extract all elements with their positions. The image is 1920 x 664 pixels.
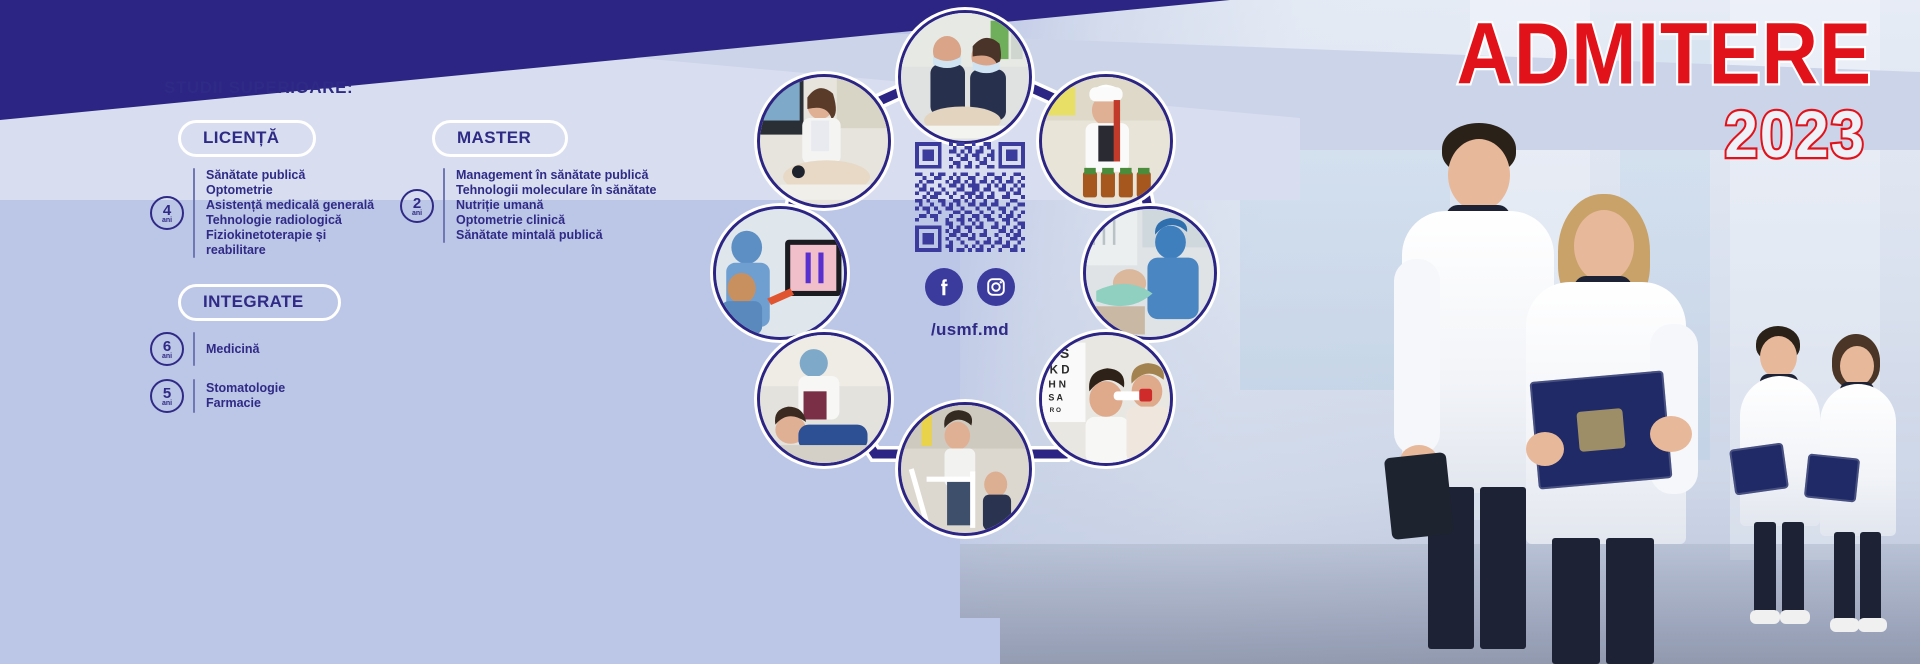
photo-illustration: S K D H N S A R O [1042,335,1170,463]
svg-text:K D: K D [1050,364,1070,376]
studies-columns: LICENȚĂ 4 ani Sănătate publică Optometri… [150,120,750,413]
program-item: Optometrie clinică [456,213,657,228]
page-title: ADMITERE [1457,14,1872,94]
duration-badge: 6 ani [150,332,184,366]
duration-unit: ani [162,400,172,407]
group-divider [193,168,195,258]
program-item: Fiziokinetoterapie și reabilitare [206,228,374,258]
duration-number: 2 [413,196,421,211]
group-divider [443,168,445,243]
photo-illustration [901,13,1029,141]
qr-code[interactable] [915,142,1025,252]
instagram-icon[interactable] [977,268,1015,306]
studies-heading: STUDII SUPERIOARE: [164,78,750,98]
studies-column-left: LICENȚĂ 4 ani Sănătate publică Optometri… [150,120,400,413]
duration-unit: ani [162,217,172,224]
duration-unit: ani [412,210,422,217]
svg-text:R O: R O [1050,407,1061,414]
degree-pill-licenta[interactable]: LICENȚĂ [178,120,316,157]
program-item: Medicină [206,342,260,357]
program-list-master: Management în sănătate publică Tehnologi… [456,168,657,243]
student-portfolio [1384,452,1454,540]
ring-photo-dental-clinic [1083,206,1217,340]
program-group-master: 2 ani Management în sănătate publică Teh… [400,168,660,243]
studies-panel: STUDII SUPERIOARE: LICENȚĂ 4 ani Sănătat… [150,78,750,413]
program-item: Tehnologie radiologică [206,213,374,228]
program-list-5ani: Stomatologie Farmacie [206,381,285,411]
ring-photo-cpr-training [898,10,1032,144]
program-item: Asistență medicală generală [206,198,374,213]
ring-photo-first-aid-training [757,332,891,466]
ring-photo-optometry-exam: S K D H N S A R O [1039,332,1173,466]
student-back-female [1802,334,1912,634]
facebook-glyph [933,276,955,298]
degree-pill-master[interactable]: MASTER [432,120,568,157]
center-contact-block: /usmf.md [870,142,1070,340]
svg-text:S: S [1060,345,1069,361]
program-item: Farmacie [206,396,285,411]
program-item: Nutriție umană [456,198,657,213]
background-bottom-strip [0,618,1000,664]
program-item: Sănătate mintală publică [456,228,657,243]
program-group-licenta: 4 ani Sănătate publică Optometrie Asiste… [150,168,400,258]
degree-pill-integrate[interactable]: INTEGRATE [178,284,341,321]
ring-photo-radiology-imaging [713,206,847,340]
duration-badge: 2 ani [400,189,434,223]
duration-unit: ani [162,353,172,360]
program-list-integrate: Medicină [206,342,260,357]
svg-text:H N: H N [1048,379,1066,390]
photo-ring: S K D H N S A R O [735,2,1205,562]
photo-illustration [760,77,888,205]
photo-illustration [901,405,1029,533]
program-item: Optometrie [206,183,374,198]
group-divider [193,379,195,413]
social-handle[interactable]: /usmf.md [870,320,1070,340]
studies-column-right: MASTER 2 ani Management în sănătate publ… [400,120,660,413]
ring-photo-physiotherapy-gait [898,402,1032,536]
degree-pill-label: INTEGRATE [203,292,304,312]
program-item: Management în sănătate publică [456,168,657,183]
duration-number: 5 [163,386,171,401]
program-item: Stomatologie [206,381,285,396]
facebook-icon[interactable] [925,268,963,306]
banner-canvas: STUDII SUPERIOARE: LICENȚĂ 4 ani Sănătat… [0,0,1920,664]
group-divider [193,332,195,366]
program-list-licenta: Sănătate publică Optometrie Asistență me… [206,168,374,258]
duration-badge: 4 ani [150,196,184,230]
students-photo-group [1200,104,1920,664]
duration-badge: 5 ani [150,379,184,413]
photo-illustration [1086,209,1214,337]
program-item: Tehnologii moleculare în sănătate [456,183,657,198]
social-links [870,268,1070,306]
program-item: Sănătate publică [206,168,374,183]
photo-illustration [716,209,844,337]
degree-pill-label: LICENȚĂ [203,128,279,148]
degree-pill-label: MASTER [457,128,531,148]
duration-number: 4 [163,203,171,218]
photo-illustration [760,335,888,463]
svg-text:S A: S A [1048,392,1063,402]
instagram-glyph [985,276,1007,298]
duration-number: 6 [163,339,171,354]
program-group-5ani: 5 ani Stomatologie Farmacie [150,379,400,413]
student-front-female [1500,164,1720,664]
program-group-integrate: 6 ani Medicină [150,332,400,366]
folder-emblem [1576,408,1625,452]
